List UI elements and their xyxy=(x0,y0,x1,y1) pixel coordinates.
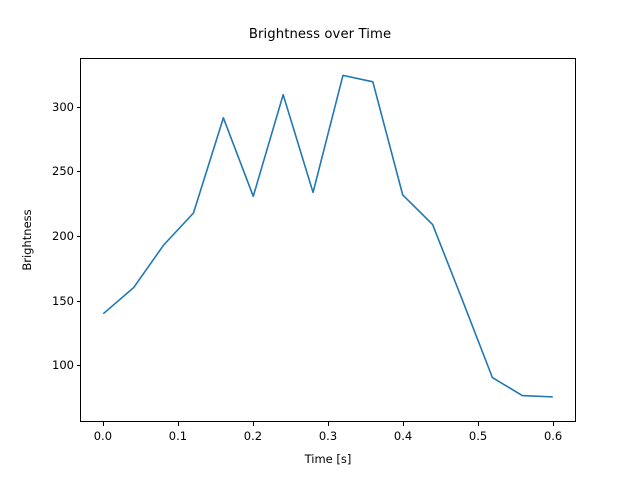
y-tick-label: 150 xyxy=(30,294,74,308)
y-tick-label: 250 xyxy=(30,164,74,178)
x-tick-label: 0.4 xyxy=(394,429,412,443)
x-tick-mark xyxy=(328,422,329,426)
matplotlib-figure: Brightness over Time 100150200250300 0.0… xyxy=(0,0,640,480)
plot-area xyxy=(81,59,575,421)
y-tick-label: 300 xyxy=(30,100,74,114)
brightness-line-series xyxy=(104,75,552,396)
x-axis-label: Time [s] xyxy=(80,452,576,466)
y-tick-mark xyxy=(77,236,81,237)
chart-title: Brightness over Time xyxy=(0,27,640,42)
x-tick-label: 0.3 xyxy=(319,429,337,443)
y-tick-mark xyxy=(77,107,81,108)
y-tick-mark xyxy=(77,365,81,366)
x-tick-mark xyxy=(253,422,254,426)
y-tick-mark xyxy=(77,171,81,172)
x-tick-mark xyxy=(178,422,179,426)
x-tick-mark xyxy=(553,422,554,426)
x-tick-mark xyxy=(103,422,104,426)
plot-axes xyxy=(80,58,576,422)
x-tick-label: 0.2 xyxy=(244,429,262,443)
y-tick-mark xyxy=(77,301,81,302)
y-tick-label: 200 xyxy=(30,229,74,243)
y-tick-label: 100 xyxy=(30,358,74,372)
y-axis-label: Brightness xyxy=(20,209,34,270)
x-tick-label: 0.1 xyxy=(169,429,187,443)
x-tick-label: 0.5 xyxy=(469,429,487,443)
x-tick-label: 0.0 xyxy=(94,429,112,443)
x-tick-mark xyxy=(403,422,404,426)
x-tick-label: 0.6 xyxy=(544,429,562,443)
x-tick-mark xyxy=(478,422,479,426)
